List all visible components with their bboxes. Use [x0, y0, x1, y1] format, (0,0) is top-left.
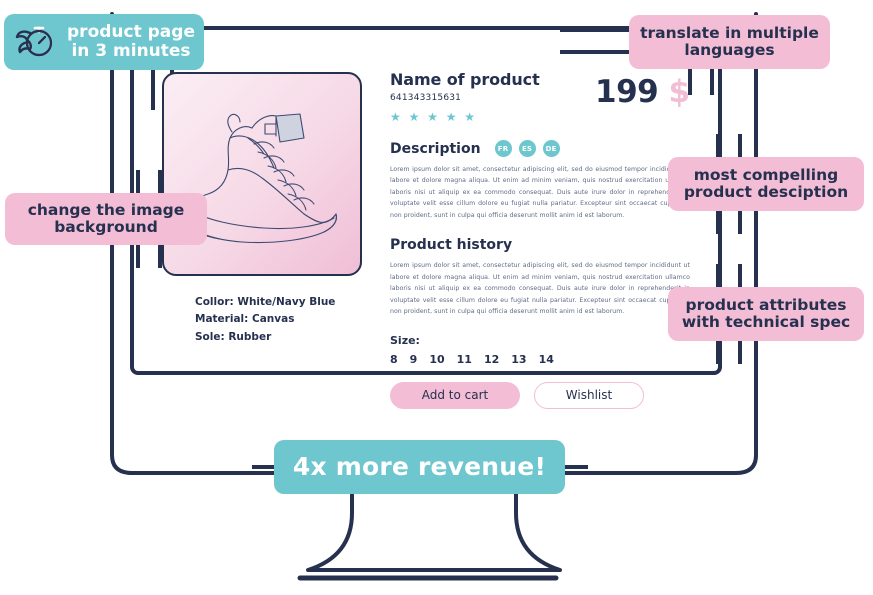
rating-stars: ★ ★ ★ ★ ★ — [390, 111, 690, 123]
description-text: Lorem ipsum dolor sit amet, consectetur … — [390, 164, 690, 221]
callout-bg-line1: change the image — [28, 202, 185, 219]
speed-stopwatch-icon — [12, 22, 56, 62]
history-text: Lorem ipsum dolor sit amet, consectetur … — [390, 260, 690, 317]
size-option[interactable]: 10 — [429, 353, 444, 366]
callout-speed-line1: product page — [64, 23, 198, 42]
callout-speed-text: product page in 3 minutes — [64, 23, 204, 61]
wishlist-button[interactable]: Wishlist — [534, 382, 644, 409]
callout-compelling-description: most compelling product desciption — [668, 157, 864, 211]
action-buttons: Add to cart Wishlist — [390, 382, 690, 409]
size-option[interactable]: 9 — [410, 353, 418, 366]
illustration-canvas: Name of product 641343315631 ★ ★ ★ ★ ★ D… — [0, 0, 873, 595]
size-option[interactable]: 12 — [484, 353, 499, 366]
product-price: 199 $ — [595, 74, 690, 110]
product-details: Name of product 641343315631 ★ ★ ★ ★ ★ D… — [390, 70, 690, 409]
language-badge-fr[interactable]: FR — [495, 140, 512, 157]
attribute-color: Collor: White/Navy Blue — [195, 294, 335, 311]
callout-product-attributes: product attributes with technical spec — [668, 287, 864, 341]
callout-product-page-speed: product page in 3 minutes — [4, 14, 204, 70]
callout-revenue: 4x more revenue! — [274, 440, 565, 494]
callout-translate: translate in multiple languages — [629, 15, 830, 69]
size-option[interactable]: 11 — [457, 353, 472, 366]
product-image[interactable] — [162, 72, 362, 276]
add-to-cart-button[interactable]: Add to cart — [390, 382, 520, 409]
size-options: 8 9 10 11 12 13 14 — [390, 353, 690, 366]
attribute-sole: Sole: Rubber — [195, 329, 335, 346]
product-attributes: Collor: White/Navy Blue Material: Canvas… — [195, 294, 335, 346]
callout-change-background: change the image background — [5, 193, 207, 245]
size-option[interactable]: 14 — [539, 353, 554, 366]
callout-desc-line2: product desciption — [684, 184, 848, 201]
size-label: Size: — [390, 334, 690, 347]
size-option[interactable]: 8 — [390, 353, 398, 366]
attribute-material: Material: Canvas — [195, 311, 335, 328]
callout-attrs-line2: with technical spec — [682, 314, 850, 331]
price-value: 199 — [595, 74, 658, 110]
callout-bg-line2: background — [28, 219, 185, 236]
language-badge-de[interactable]: DE — [543, 140, 560, 157]
callout-attrs-line1: product attributes — [682, 297, 850, 314]
description-heading: Description — [390, 141, 481, 157]
callout-desc-line1: most compelling — [684, 167, 848, 184]
language-badges: FR ES DE — [495, 140, 560, 157]
callout-speed-line2: in 3 minutes — [64, 42, 198, 61]
callout-translate-line1: translate in multiple — [640, 25, 819, 42]
history-heading: Product history — [390, 237, 690, 253]
language-badge-es[interactable]: ES — [519, 140, 536, 157]
price-currency: $ — [669, 74, 690, 110]
size-option[interactable]: 13 — [511, 353, 526, 366]
callout-translate-line2: languages — [640, 42, 819, 59]
